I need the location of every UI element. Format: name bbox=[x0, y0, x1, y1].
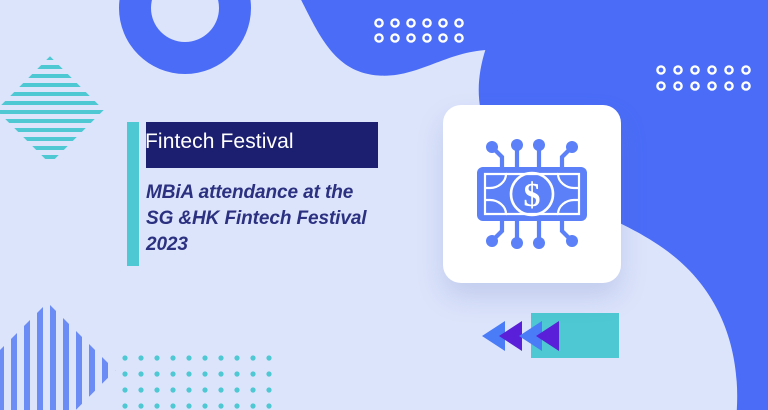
teal-accent-bar bbox=[127, 122, 139, 266]
fintech-festival-banner: Fintech Festival MBiA attendance at the … bbox=[0, 0, 768, 410]
page-subtitle: MBiA attendance at the SG &HK Fintech Fe… bbox=[146, 180, 378, 258]
background-decorations bbox=[0, 0, 768, 410]
fintech-chip-banknote-icon: $ bbox=[474, 133, 590, 255]
fintech-icon-card: $ bbox=[443, 105, 621, 283]
dollar-sign: $ bbox=[524, 177, 541, 214]
page-title: Fintech Festival bbox=[145, 129, 294, 154]
